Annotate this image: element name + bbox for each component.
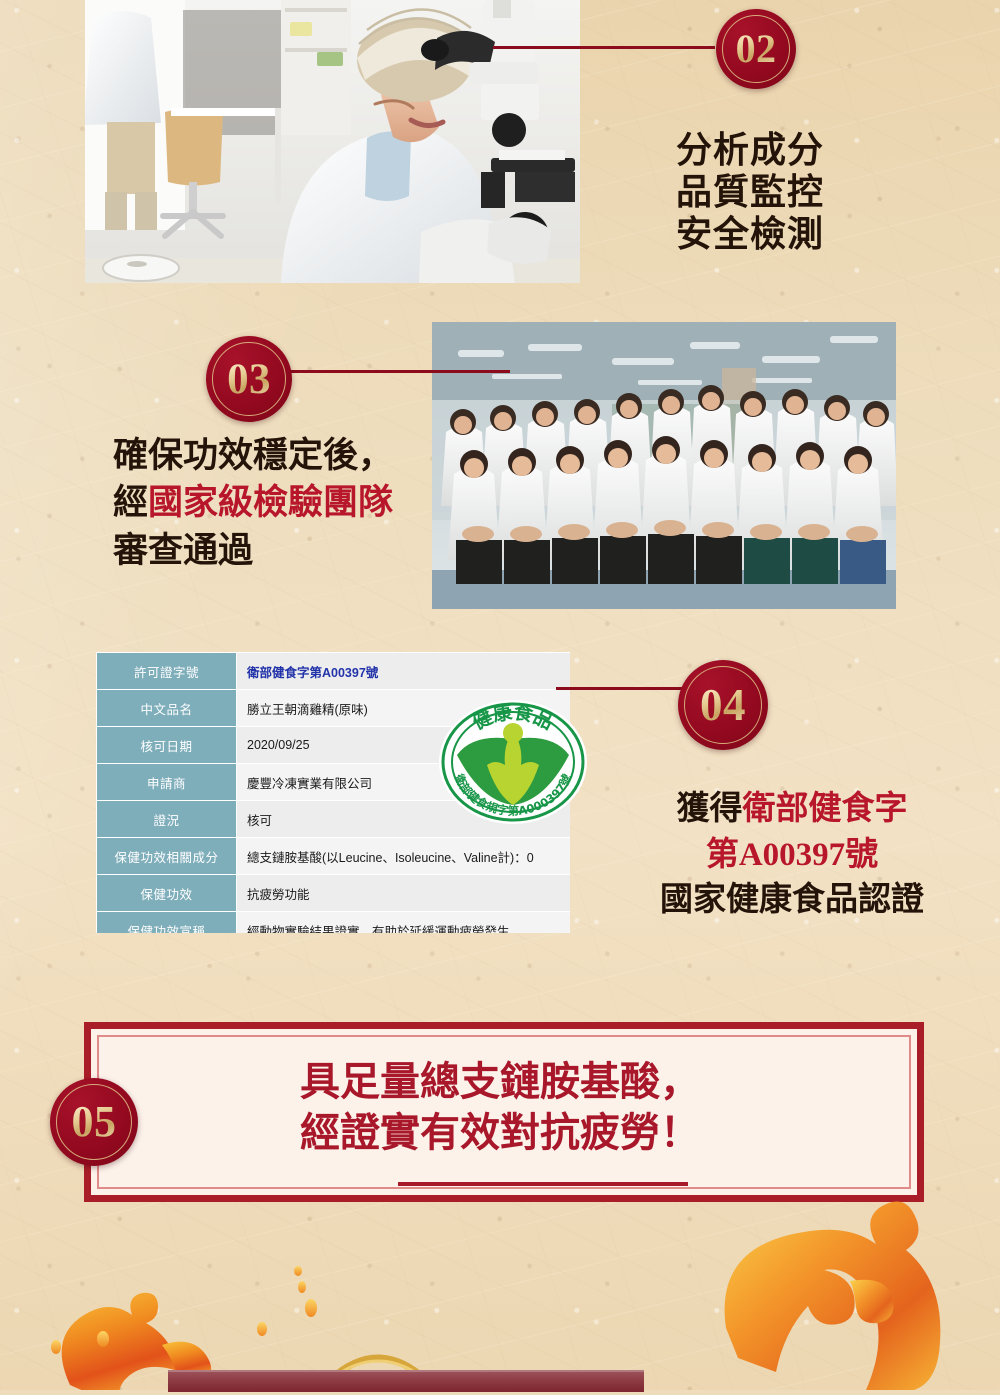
cert-row-label: 核可日期 [97, 727, 237, 764]
cert-row-label: 申請商 [97, 764, 237, 801]
section-04-line-1-highlight: 衛部健食字 [743, 791, 908, 827]
section-03-line-2-prefix: 經 [113, 483, 148, 522]
connector-line-04 [556, 687, 684, 690]
section-03-line-3: 審查通過 [113, 527, 463, 574]
section-02-line-2: 品質監控 [676, 172, 976, 214]
section-03-line-1: 確保功效穩定後， [113, 432, 463, 479]
section-badge-05: 05 [50, 1078, 138, 1166]
cert-row-value: 抗疲勞功能 [237, 875, 571, 912]
product-gift-box [168, 1370, 644, 1392]
cert-row-label: 保健功效 [97, 875, 237, 912]
health-food-seal: 健康食品 衛部健食規字第A000397號 [437, 697, 589, 827]
cert-row-label: 許可證字號 [97, 653, 237, 690]
table-row: 許可證字號 衛部健食字第A00397號 [97, 653, 571, 690]
cert-row-label: 保健功效宣稱 [97, 912, 237, 934]
cert-row-label: 保健功效相關成分 [97, 838, 237, 875]
section-badge-02: 02 [716, 9, 796, 89]
connector-line-03 [288, 370, 510, 373]
table-row: 保健功效宣稱 經動物實驗結果證實，有助於延緩運動疲勞發生。 [97, 912, 571, 934]
lab-scientist-microscope-photo [85, 0, 580, 283]
section-05-line-1: 具足量總支鏈胺基酸， [130, 1056, 870, 1107]
section-badge-03: 03 [206, 336, 292, 422]
cert-row-value: 衛部健食字第A00397號 [237, 653, 571, 690]
cert-row-value: 經動物實驗結果證實，有助於延緩運動疲勞發生。 [237, 912, 571, 934]
cert-row-value: 總支鏈胺基酸(以Leucine、Isoleucine、Valine計)：0 [237, 838, 571, 875]
section-04-headline: 獲得衛部健食字 第A00397號 國家健康食品認證 [592, 787, 992, 924]
section-03-headline: 確保功效穩定後， 經國家級檢驗團隊 審查通過 [113, 432, 463, 574]
connector-line-02 [493, 46, 715, 49]
section-badge-05-number: 05 [72, 1100, 117, 1144]
table-row: 保健功效 抗疲勞功能 [97, 875, 571, 912]
section-03-line-2: 經國家級檢驗團隊 [113, 479, 463, 526]
section-03-line-2-highlight: 國家級檢驗團隊 [148, 483, 393, 522]
research-team-group-photo [432, 322, 896, 609]
table-row: 保健功效相關成分 總支鏈胺基酸(以Leucine、Isoleucine、Vali… [97, 838, 571, 875]
section-badge-04: 04 [678, 660, 768, 750]
section-04-line-1: 獲得衛部健食字 [592, 787, 992, 833]
section-05-underline [398, 1182, 688, 1186]
section-05-line-2: 經證實有效對抗疲勞！ [130, 1107, 870, 1158]
section-05-headline: 具足量總支鏈胺基酸， 經證實有效對抗疲勞！ [130, 1056, 870, 1158]
liquid-splash-artwork [0, 1195, 1000, 1390]
section-02-line-3: 安全檢測 [676, 214, 976, 256]
section-02-line-1: 分析成分 [676, 130, 976, 172]
cert-row-label: 中文品名 [97, 690, 237, 727]
section-badge-03-number: 03 [227, 358, 271, 401]
section-badge-02-number: 02 [736, 29, 777, 69]
section-02-headline: 分析成分 品質監控 安全檢測 [676, 130, 976, 255]
section-04-line-3: 國家健康食品認證 [592, 878, 992, 924]
cert-row-label: 證況 [97, 801, 237, 838]
section-04-line-2: 第A00397號 [592, 833, 992, 879]
section-04-line-1-prefix: 獲得 [677, 791, 743, 827]
section-badge-04-number: 04 [700, 683, 746, 728]
